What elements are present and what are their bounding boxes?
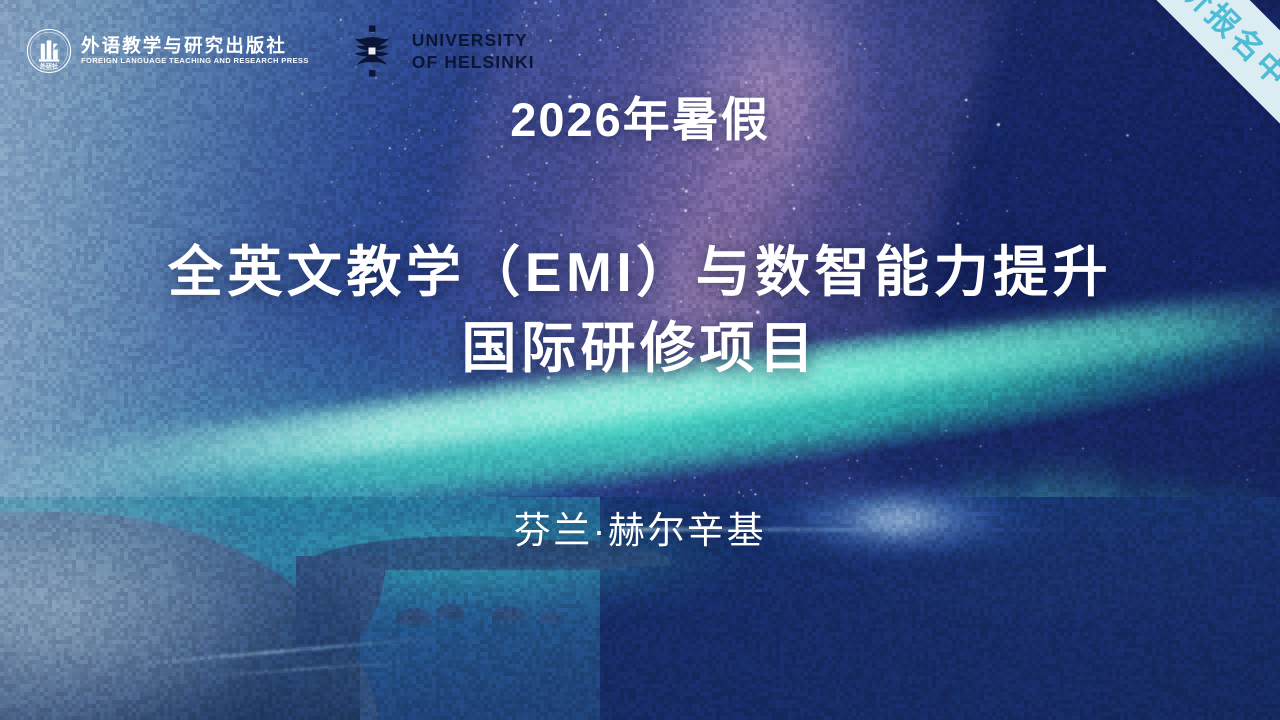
helsinki-name-line1: UNIVERSITY (412, 30, 535, 50)
shore-rock (436, 604, 464, 618)
fltrp-logo: 外研社 外语教学与研究出版社 FOREIGN LANGUAGE TEACHING… (26, 28, 309, 74)
left-haze-overlay (0, 0, 260, 720)
shore-rock (492, 606, 526, 621)
university-of-helsinki-logo: UNIVERSITY OF HELSINKI (343, 22, 535, 80)
horizon-line (620, 528, 1280, 531)
helsinki-wordmark: UNIVERSITY OF HELSINKI (412, 30, 535, 72)
fltrp-name-cn: 外语教学与研究出版社 (81, 37, 309, 56)
svg-text:外研社: 外研社 (39, 62, 58, 70)
promo-poster: 外研社 外语教学与研究出版社 FOREIGN LANGUAGE TEACHING… (0, 0, 1280, 720)
fltrp-name-en: FOREIGN LANGUAGE TEACHING AND RESEARCH P… (81, 57, 309, 65)
fltrp-seal-icon: 外研社 (26, 28, 72, 74)
helsinki-emblem-icon (343, 22, 401, 80)
horizon-glow (760, 470, 1090, 560)
logo-bar: 外研社 外语教学与研究出版社 FOREIGN LANGUAGE TEACHING… (26, 22, 535, 80)
helsinki-name-line2: OF HELSINKI (412, 52, 535, 72)
shore-rock (540, 612, 562, 623)
